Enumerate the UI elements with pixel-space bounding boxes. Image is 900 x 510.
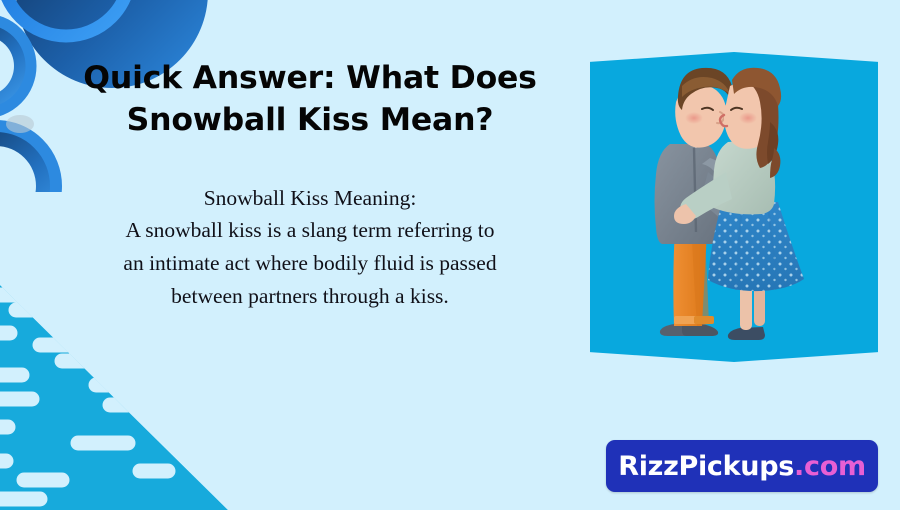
page-title: Quick Answer: What Does Snowball Kiss Me… (40, 58, 580, 142)
brand-label: RizzPickups.com (618, 453, 866, 480)
decor-ring-middle (0, 14, 31, 113)
couple-kissing-illustration (590, 52, 878, 362)
decor-grey-dot (6, 115, 34, 133)
brand-name: RizzPickups (618, 451, 794, 482)
illustration-panel (590, 52, 878, 362)
brand-tld: .com (794, 451, 866, 482)
brand-badge[interactable]: RizzPickups.com (606, 440, 878, 492)
definition-paragraph: Snowball Kiss Meaning: A snowball kiss i… (40, 182, 580, 313)
decor-ring-top (2, 0, 130, 36)
hatched-half-disc-icon (37, 7, 97, 37)
text-column: Quick Answer: What Does Snowball Kiss Me… (40, 58, 580, 312)
poster-canvas: Quick Answer: What Does Snowball Kiss Me… (0, 0, 900, 510)
